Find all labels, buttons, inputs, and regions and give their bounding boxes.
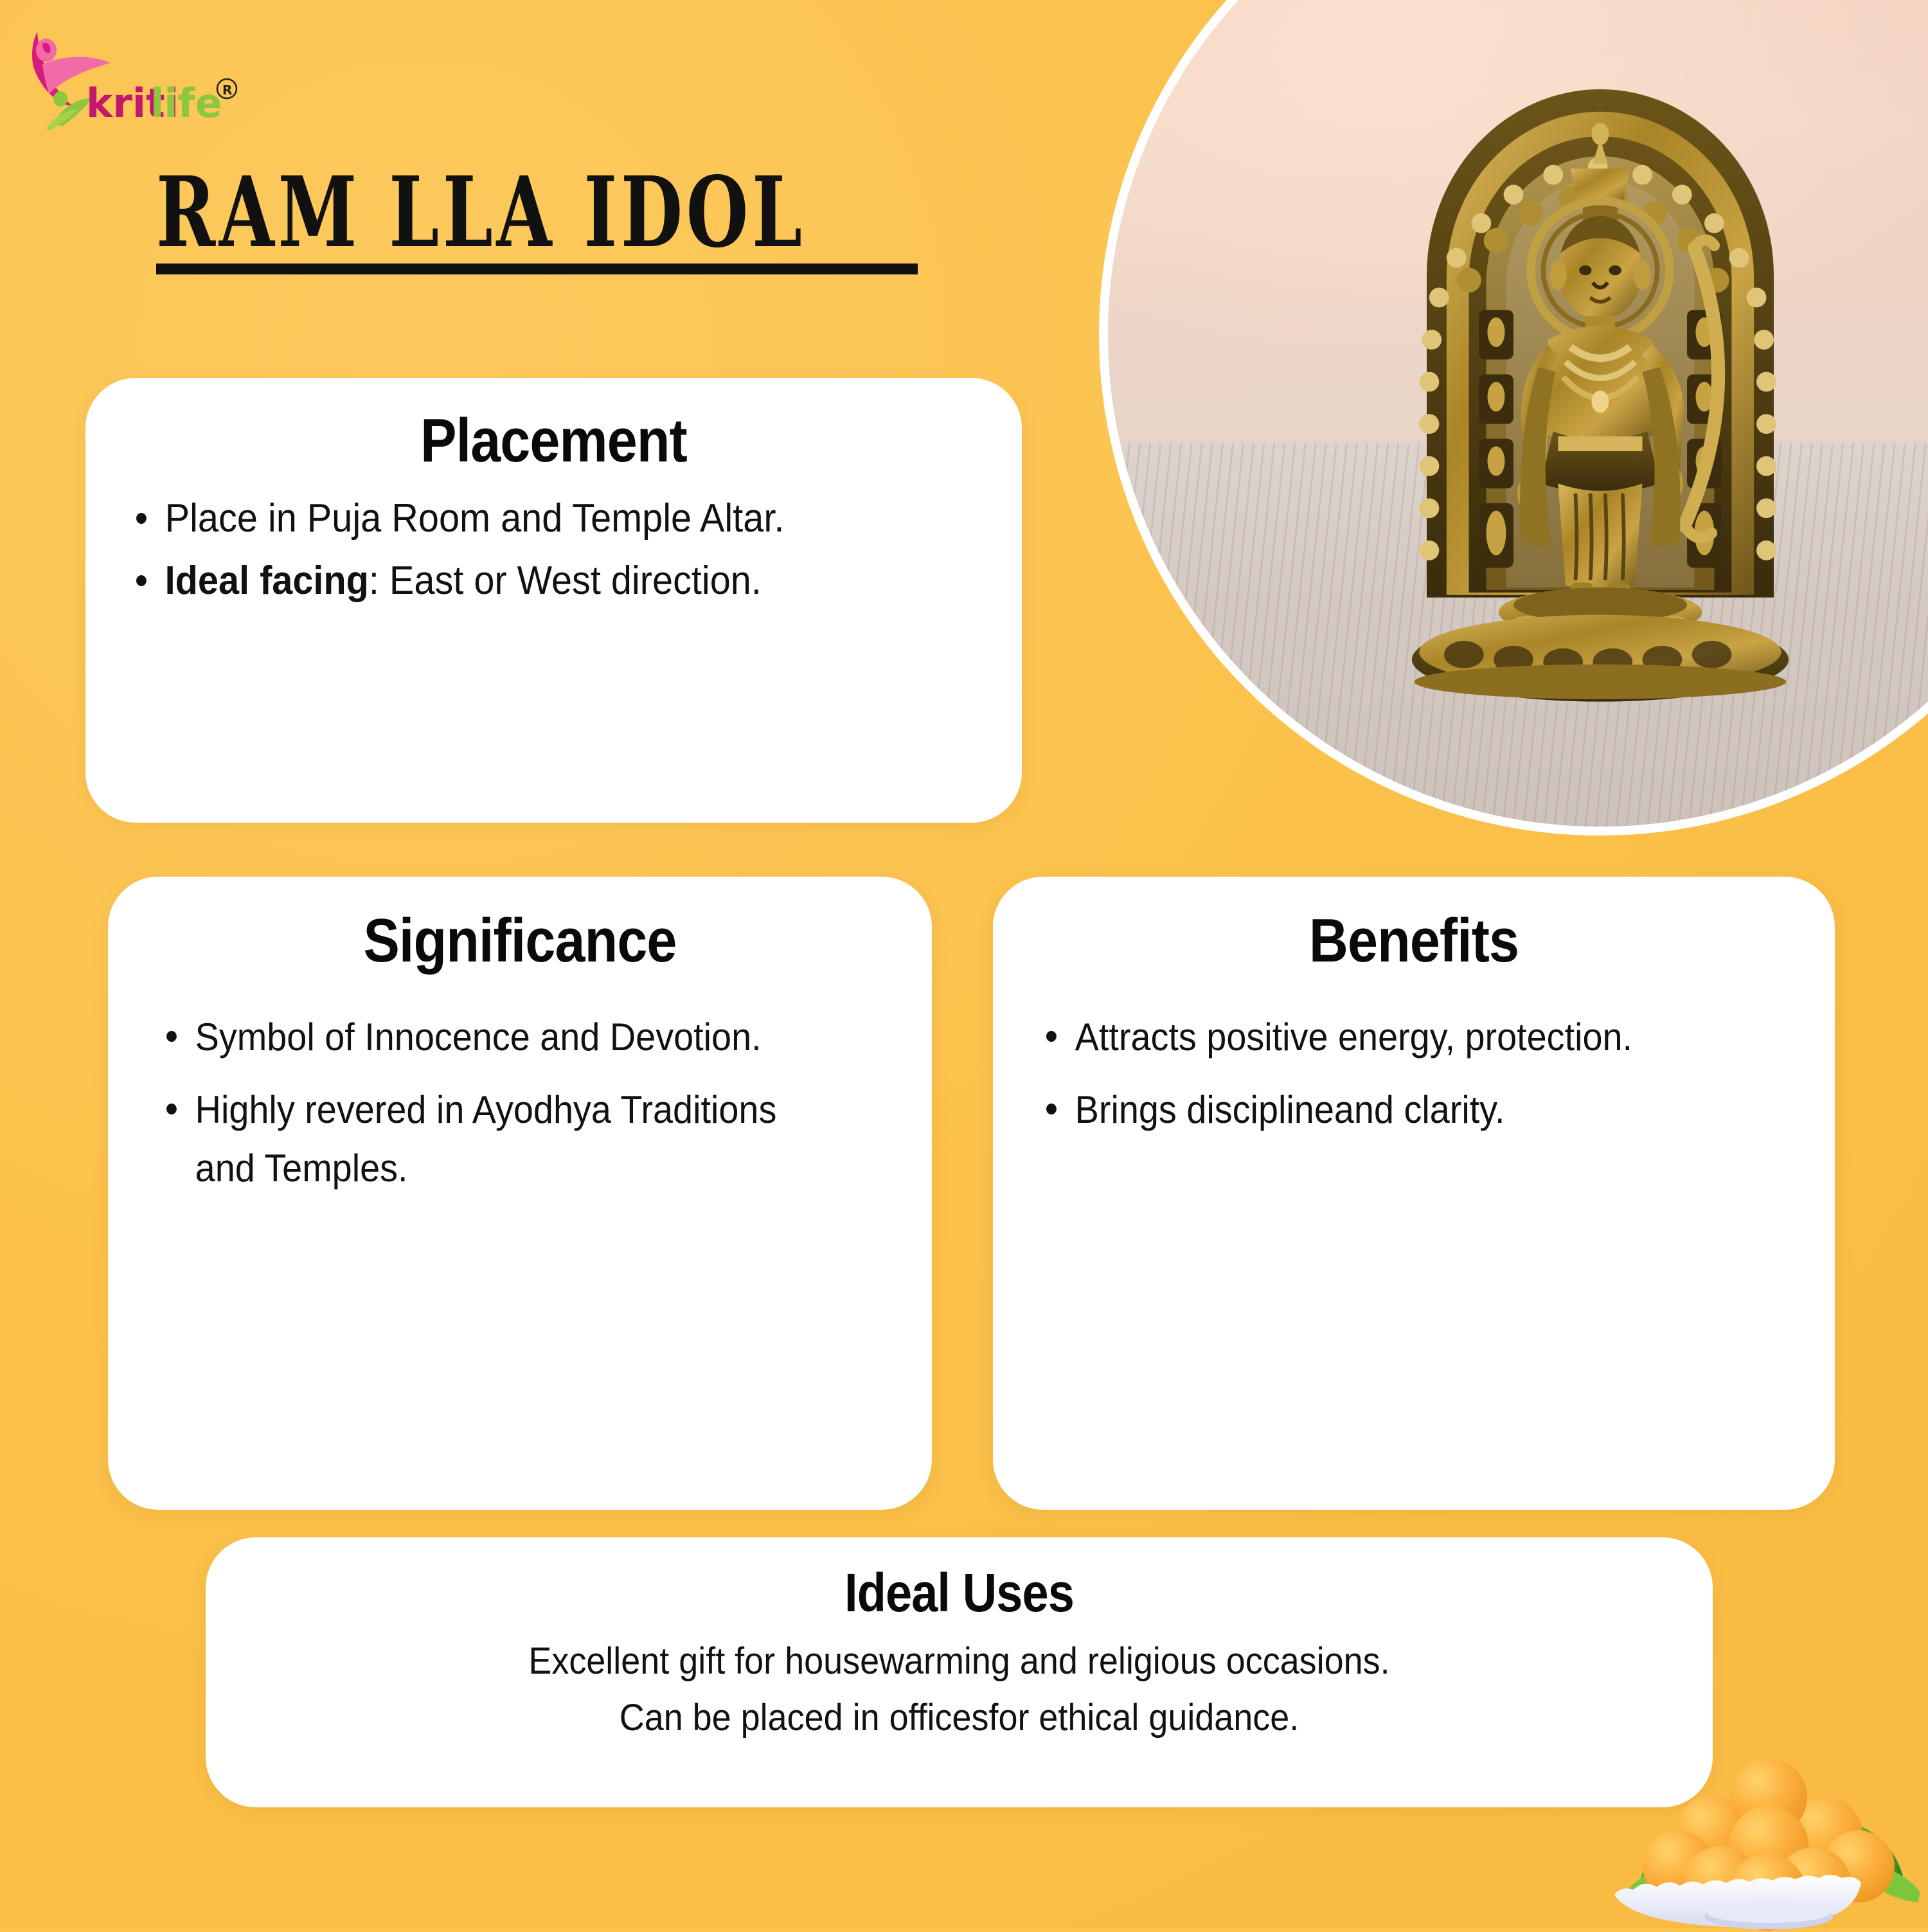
card-placement-title: Placement: [141, 378, 965, 472]
list-item: Highly revered in Ayodhya Traditions and…: [158, 1080, 844, 1197]
card-ideal-uses-title: Ideal Uses: [296, 1537, 1623, 1620]
brand-logo: kriti life R: [14, 27, 245, 133]
list-item: Attracts positive energy, protection.: [1038, 1008, 1745, 1066]
list-item: Brings disciplineand clarity.: [1038, 1080, 1745, 1139]
card-significance-list: Symbol of Innocence and Devotion. Highly…: [158, 1008, 896, 1198]
card-benefits-title: Benefits: [1044, 877, 1785, 972]
kriti-life-logo-icon: kriti life R: [14, 27, 245, 133]
bullet-lead: Ideal facing: [165, 559, 369, 603]
ideal-uses-line-2: Can be placed in officesfor ethical guid…: [258, 1693, 1660, 1743]
bullet-text: Place in Puja Room and Temple Altar.: [165, 496, 785, 541]
page-title-text: RAM LLA IDOL: [156, 164, 881, 261]
bullet-text: Highly revered in Ayodhya Traditions and…: [195, 1088, 777, 1190]
page-title: RAM LLA IDOL: [156, 164, 927, 240]
poster-canvas: kriti life R RAM LLA IDOL: [0, 0, 1928, 1928]
card-placement: Placement Place in Puja Room and Temple …: [85, 378, 1022, 823]
bullet-text: Symbol of Innocence and Devotion.: [195, 1015, 762, 1059]
card-benefits-list: Attracts positive energy, protection. Br…: [1038, 1008, 1799, 1139]
bullet-text: Attracts positive energy, protection.: [1075, 1015, 1632, 1059]
list-item: Symbol of Innocence and Devotion.: [158, 1008, 844, 1066]
card-significance: Significance Symbol of Innocence and Dev…: [108, 877, 932, 1510]
svg-text:R: R: [222, 82, 232, 98]
svg-text:life: life: [150, 80, 222, 127]
bullet-text: Brings disciplineand clarity.: [1075, 1088, 1505, 1131]
card-significance-title: Significance: [157, 877, 882, 972]
bullet-text: : East or West direction.: [369, 559, 762, 603]
list-item: Place in Puja Room and Temple Altar.: [128, 490, 924, 548]
card-placement-list: Place in Puja Room and Temple Altar. Ide…: [128, 490, 983, 610]
ram-lalla-idol-image: [1337, 15, 1864, 709]
card-ideal-uses: Ideal Uses Excellent gift for housewarmi…: [206, 1537, 1713, 1807]
card-benefits: Benefits Attracts positive energy, prote…: [993, 877, 1835, 1510]
ideal-uses-line-1: Excellent gift for housewarming and reli…: [258, 1636, 1660, 1686]
list-item: Ideal facing: East or West direction.: [128, 552, 924, 611]
title-underline: [156, 264, 918, 274]
product-photo-circle: [1099, 0, 1928, 836]
laddu-plate-icon: [1602, 1720, 1928, 1932]
